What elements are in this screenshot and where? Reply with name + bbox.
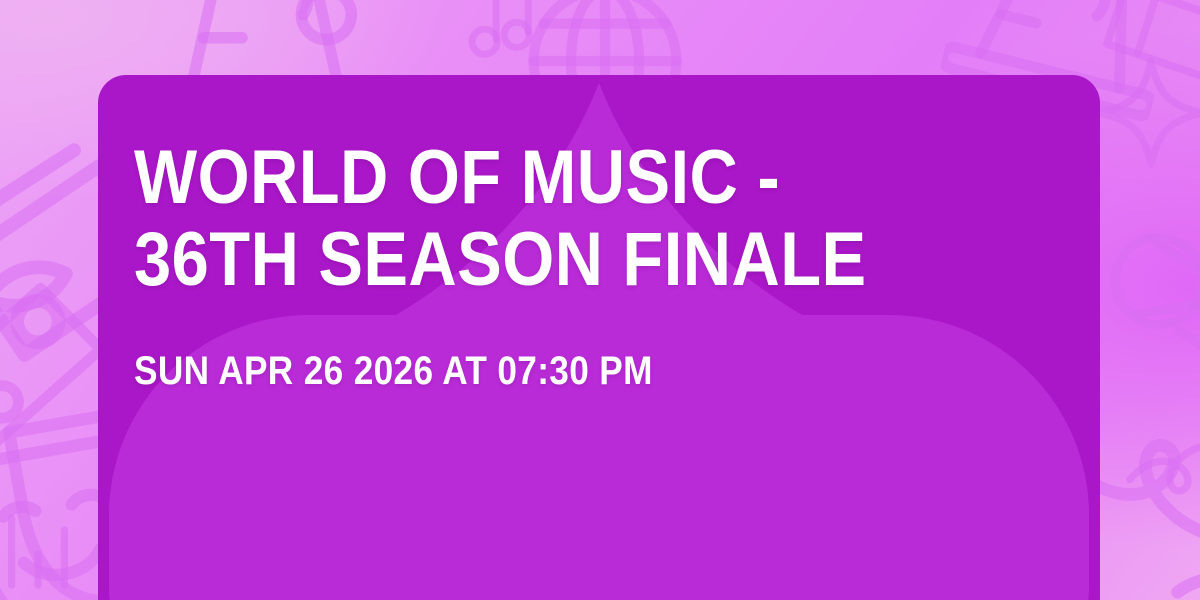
event-title: World of Music - 36th Season Finale <box>134 137 952 301</box>
microphone-icon <box>1087 214 1200 398</box>
swirl-icon <box>1120 398 1200 518</box>
equalizer-bars-icon <box>0 482 86 600</box>
event-date: Sun Apr 26 2026 at 07:30 PM <box>134 349 952 393</box>
music-note-icon <box>468 0 538 60</box>
event-card: World of Music - 36th Season Finale Sun … <box>98 75 1100 600</box>
event-banner: World of Music - 36th Season Finale Sun … <box>0 0 1200 600</box>
event-card-content: World of Music - 36th Season Finale Sun … <box>134 75 1064 600</box>
